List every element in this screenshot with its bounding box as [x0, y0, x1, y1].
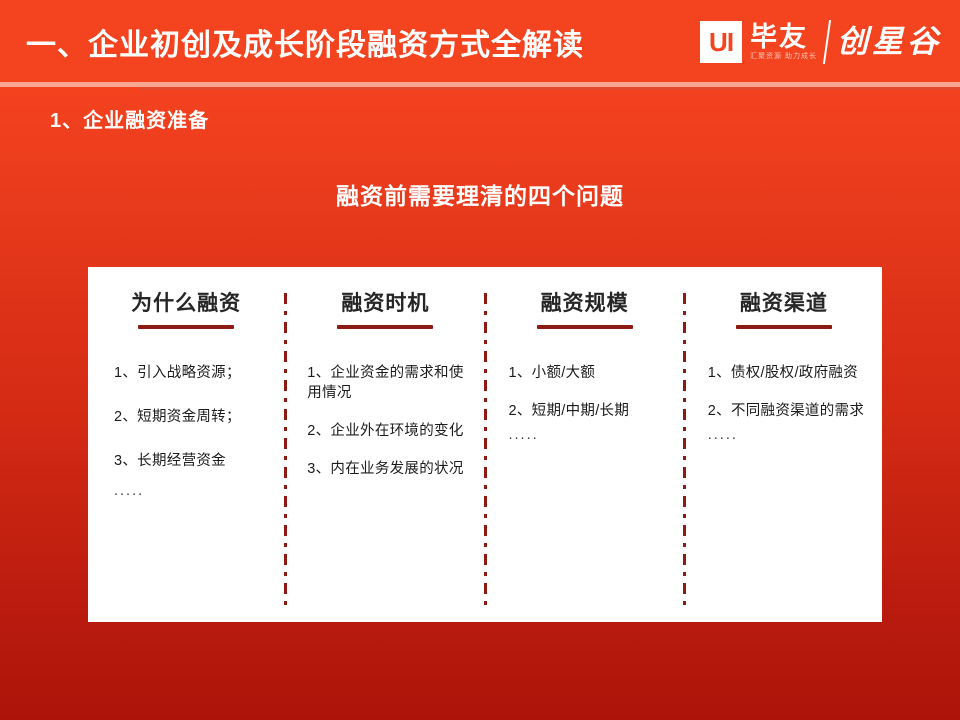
list-item: 2、不同融资渠道的需求: [708, 401, 872, 421]
column-title-underline: [337, 325, 433, 329]
column-title-underline: [736, 325, 832, 329]
brand-logo: UI 毕友 汇聚资源 助力成长 创星谷: [700, 14, 942, 70]
brand-name-primary: 毕友: [750, 22, 817, 52]
list-item-ellipsis: .....: [114, 481, 274, 501]
column-financing-channel: 融资渠道 1、债权/股权/政府融资 2、不同融资渠道的需求 .....: [686, 267, 882, 622]
section-label: 1、企业融资准备: [50, 104, 209, 133]
list-item: 2、企业外在环境的变化: [307, 421, 473, 441]
ui-logo-icon: UI: [700, 21, 742, 63]
ui-logo-icon-text: UI: [709, 29, 733, 55]
content-panel: 为什么融资 1、引入战略资源； 2、短期资金周转； 3、长期经营资金 .....…: [88, 267, 882, 622]
list-item: 1、企业资金的需求和使用情况: [307, 363, 473, 403]
list-item: 3、长期经营资金: [114, 451, 274, 471]
brand-tagline: 汇聚资源 助力成长: [750, 52, 817, 62]
logo-separator-icon: [823, 20, 831, 64]
list-item: 2、短期资金周转；: [114, 407, 274, 427]
column-title: 融资渠道: [696, 291, 872, 317]
column-title-underline: [537, 325, 633, 329]
page-title: 一、企业初创及成长阶段融资方式全解读: [26, 26, 584, 66]
main-heading: 融资前需要理清的四个问题: [0, 177, 960, 211]
column-item-list: 1、企业资金的需求和使用情况 2、企业外在环境的变化 3、内在业务发展的状况: [297, 363, 473, 479]
column-title: 融资时机: [297, 291, 473, 317]
column-item-list: 1、债权/股权/政府融资 2、不同融资渠道的需求 .....: [696, 363, 872, 445]
brand-name-secondary: 创星谷: [837, 24, 942, 60]
list-item: 1、引入战略资源；: [114, 363, 274, 383]
column-title: 融资规模: [497, 291, 673, 317]
column-title-underline: [138, 325, 234, 329]
column-financing-timing: 融资时机 1、企业资金的需求和使用情况 2、企业外在环境的变化 3、内在业务发展…: [287, 267, 483, 622]
column-why-finance: 为什么融资 1、引入战略资源； 2、短期资金周转； 3、长期经营资金 .....: [88, 267, 284, 622]
column-financing-scale: 融资规模 1、小额/大额 2、短期/中期/长期 .....: [487, 267, 683, 622]
column-item-list: 1、小额/大额 2、短期/中期/长期 .....: [497, 363, 673, 445]
list-item-ellipsis: .....: [708, 425, 872, 445]
header-divider-shadow: [140, 87, 960, 90]
list-item: 3、内在业务发展的状况: [307, 459, 473, 479]
slide-canvas: 一、企业初创及成长阶段融资方式全解读 UI 毕友 汇聚资源 助力成长 创星谷 1…: [0, 0, 960, 720]
column-title: 为什么融资: [98, 291, 274, 317]
list-item: 1、小额/大额: [509, 363, 673, 383]
brand-logo-words: 毕友 汇聚资源 助力成长: [750, 22, 817, 62]
list-item: 2、短期/中期/长期: [509, 401, 673, 421]
column-item-list: 1、引入战略资源； 2、短期资金周转； 3、长期经营资金 .....: [98, 363, 274, 501]
list-item: 1、债权/股权/政府融资: [708, 363, 872, 383]
list-item-ellipsis: .....: [509, 425, 673, 445]
